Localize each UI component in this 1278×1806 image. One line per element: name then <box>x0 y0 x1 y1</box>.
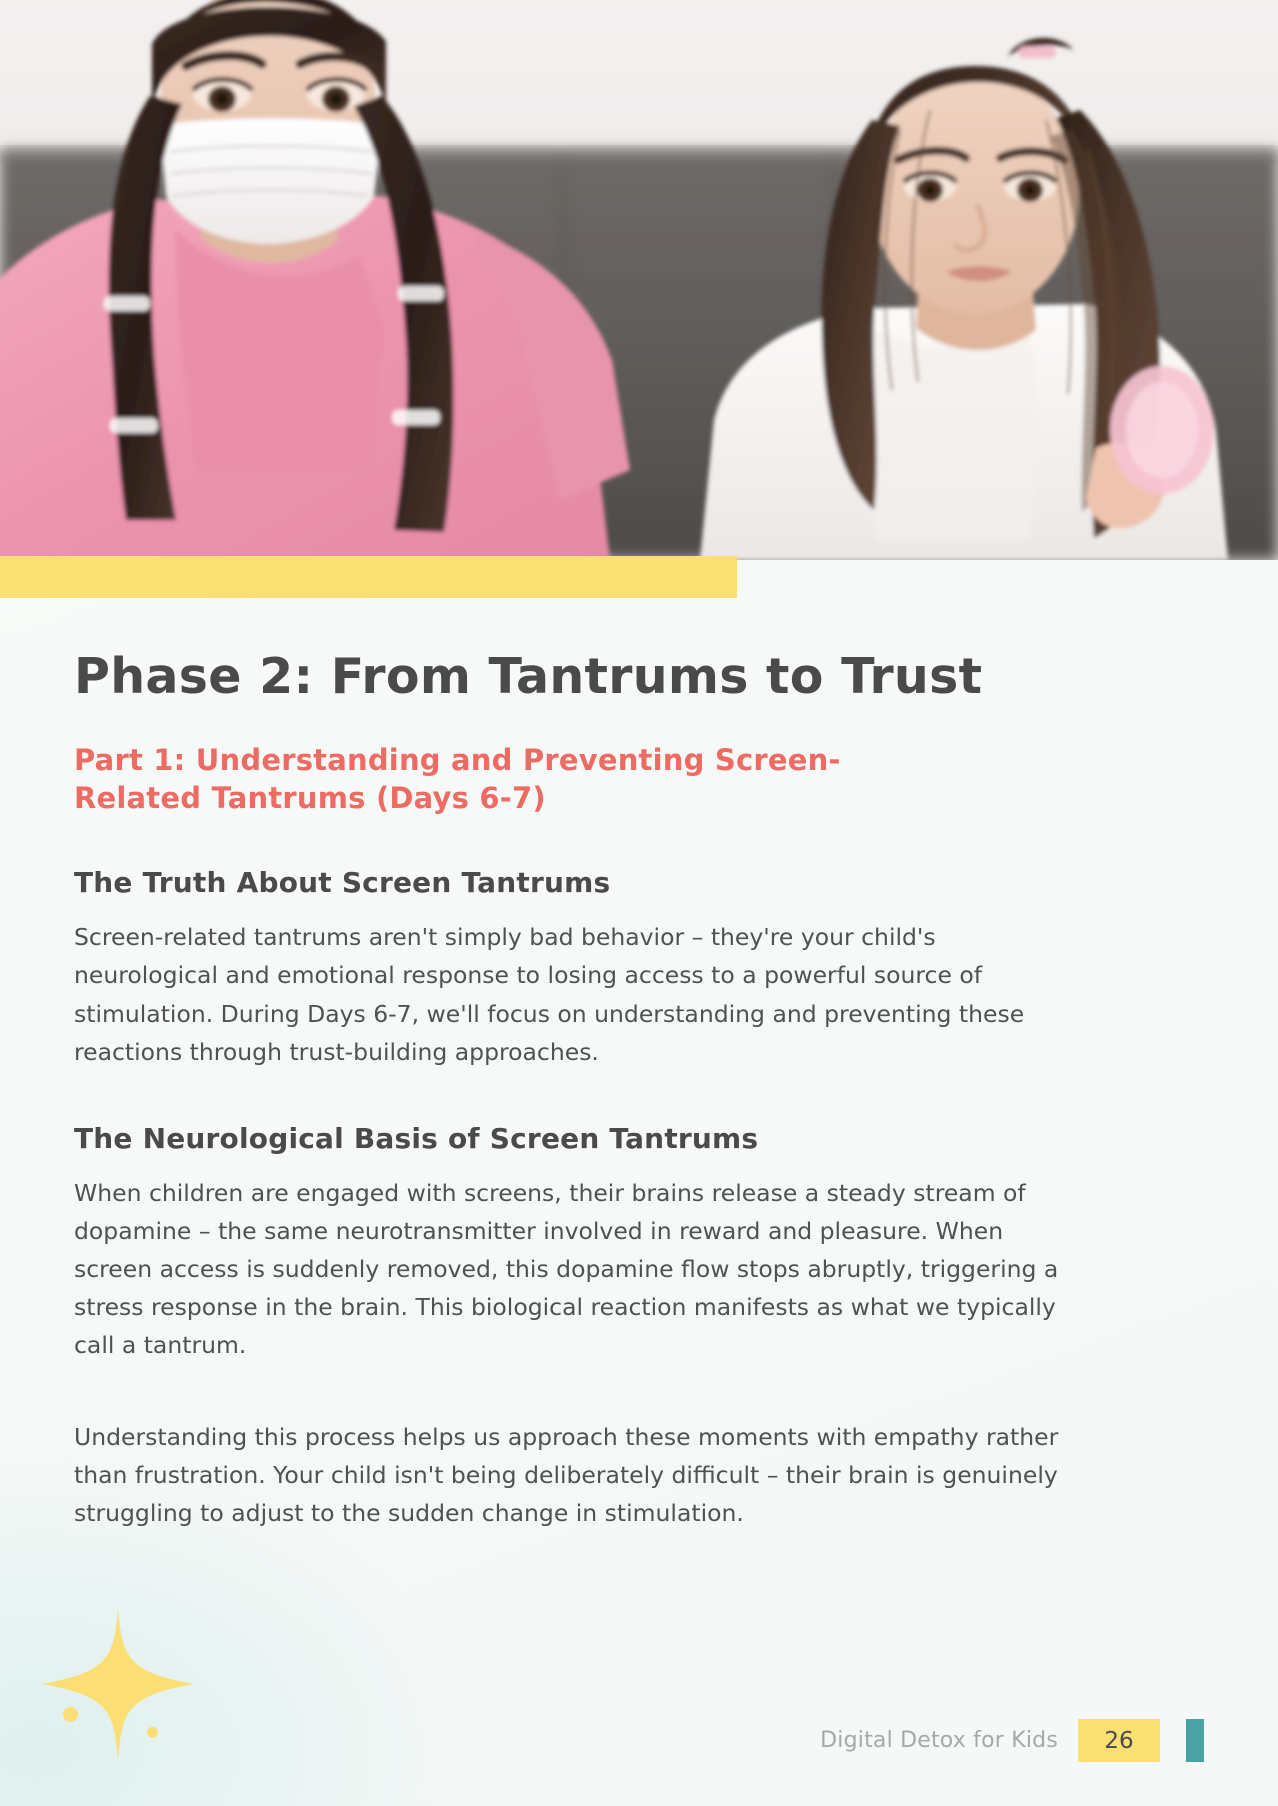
page-content: Phase 2: From Tantrums to Trust Part 1: … <box>0 598 1278 1532</box>
section-heading-neurological-basis: The Neurological Basis of Screen Tantrum… <box>74 1121 1204 1156</box>
page-footer: Digital Detox for Kids 26 <box>820 1719 1204 1762</box>
hero-photo <box>0 0 1278 560</box>
page-title: Phase 2: From Tantrums to Trust <box>74 650 1204 705</box>
page-number-badge: 26 <box>1078 1719 1160 1762</box>
decorative-dot-small <box>147 1727 158 1738</box>
hero-photo-illustration <box>0 0 1278 560</box>
decorative-dot-large <box>63 1707 78 1722</box>
section-paragraph: Screen-related tantrums aren't simply ba… <box>74 918 1074 1070</box>
sparkle-star-icon <box>38 1604 198 1764</box>
section-paragraph: Understanding this process helps us appr… <box>74 1418 1074 1532</box>
document-page: Phase 2: From Tantrums to Trust Part 1: … <box>0 0 1278 1806</box>
footer-book-title: Digital Detox for Kids <box>820 1728 1058 1753</box>
section-paragraph: When children are engaged with screens, … <box>74 1174 1074 1364</box>
section-heading-truth-about-screen-tantrums: The Truth About Screen Tantrums <box>74 865 1204 900</box>
yellow-accent-bar <box>0 556 737 598</box>
part-subtitle: Part 1: Understanding and Preventing Scr… <box>74 741 934 818</box>
teal-accent-tab <box>1186 1719 1204 1762</box>
